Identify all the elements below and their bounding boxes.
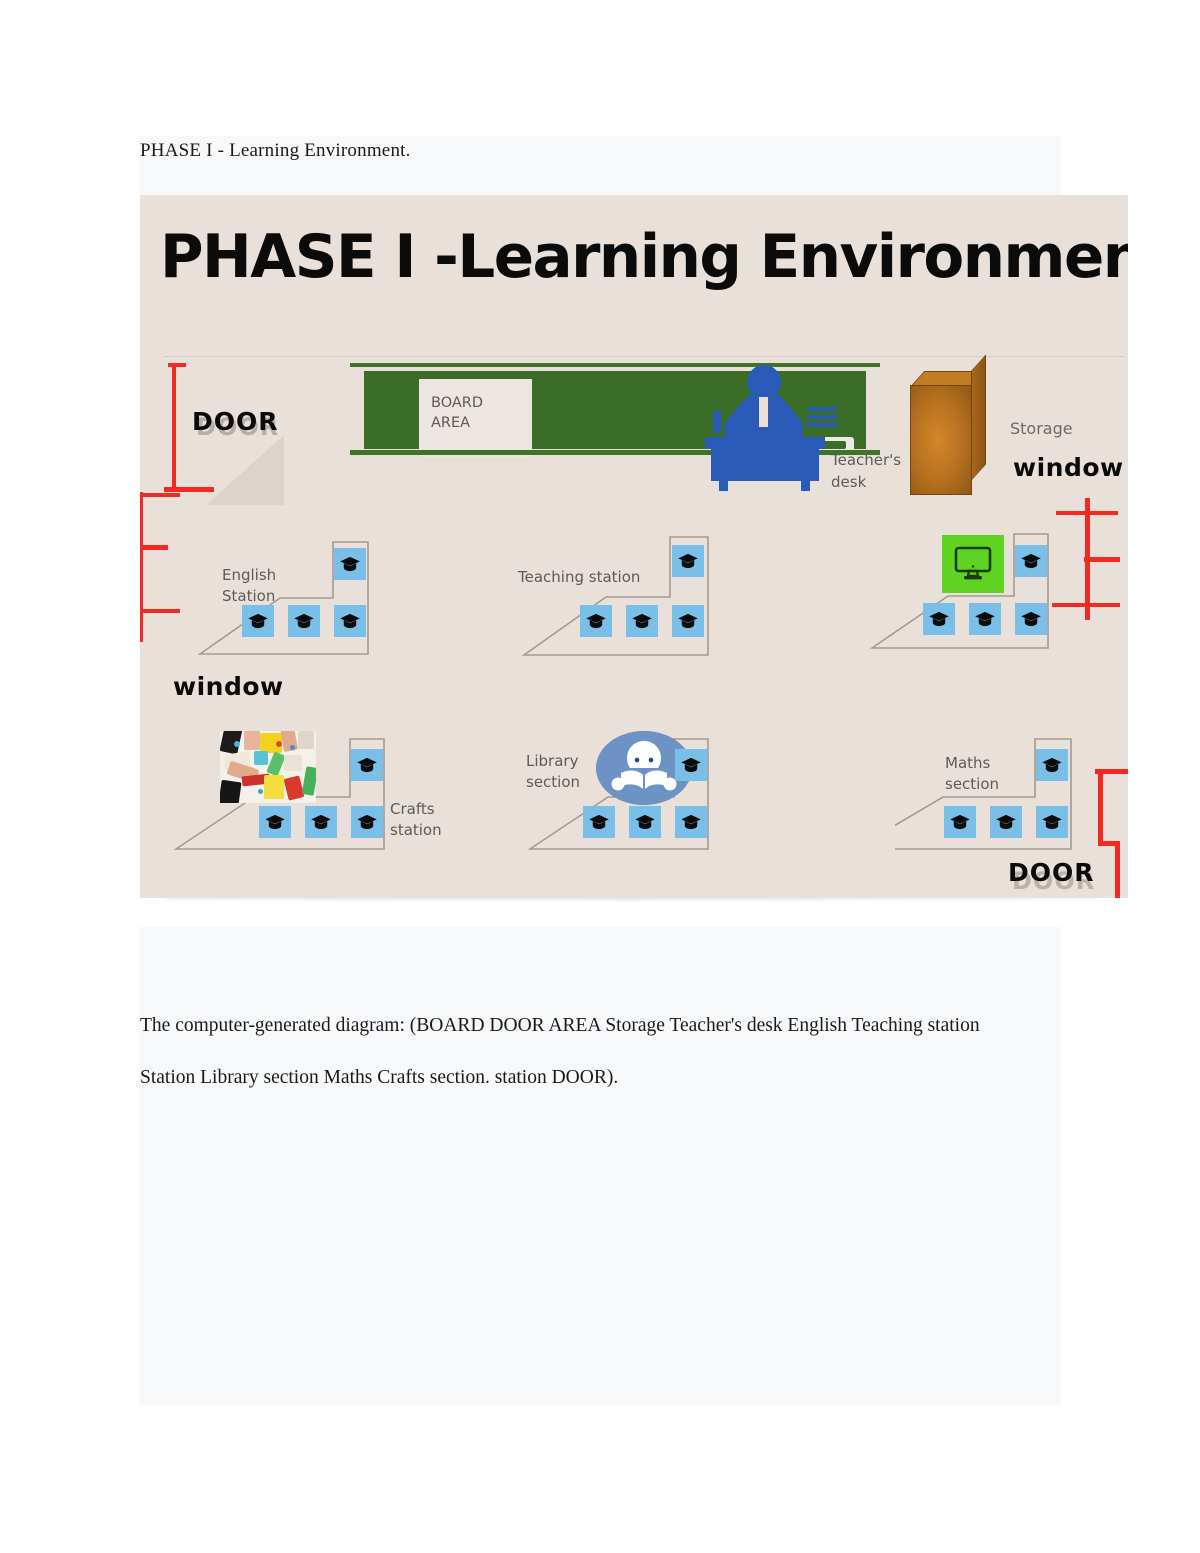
station-teaching-label: Teaching station	[518, 567, 640, 588]
desk-leg-right	[801, 479, 810, 491]
seat[interactable]	[583, 806, 615, 838]
door-marker-top-left-bottom-tick	[164, 487, 214, 492]
seat[interactable]	[944, 806, 976, 838]
seat[interactable]	[351, 749, 383, 781]
teacher-desk-group: Teacher's desk	[705, 363, 840, 488]
seat[interactable]	[1036, 806, 1068, 838]
station-crafts-outline	[168, 733, 468, 863]
teacher-tie-icon	[759, 397, 768, 427]
seat[interactable]	[334, 548, 366, 580]
storage-cabinet-front	[910, 385, 972, 495]
window-marker-right-tick-2	[1084, 557, 1120, 562]
station-library[interactable]: Library section	[518, 733, 768, 863]
seat[interactable]	[675, 806, 707, 838]
seat[interactable]	[1015, 603, 1047, 635]
storage-cabinet-side	[971, 354, 986, 481]
page-heading: PHASE I - Learning Environment.	[140, 140, 1000, 162]
station-crafts-label: Crafts station	[390, 799, 442, 841]
door-marker-top-left-vertical	[172, 363, 176, 491]
window-marker-left-tick-1	[140, 493, 180, 497]
seat[interactable]	[1036, 749, 1068, 781]
door-marker-bottom-right-vertical-2	[1115, 841, 1120, 898]
station-computer[interactable]	[862, 520, 1077, 660]
seat[interactable]	[242, 605, 274, 637]
diagram-title: PHASE I -Learning Environment	[160, 221, 1128, 293]
station-teaching-outline	[510, 525, 740, 665]
station-maths-outline	[895, 733, 1110, 863]
station-maths[interactable]: Maths section	[895, 733, 1110, 863]
desk-body	[711, 447, 819, 481]
station-maths-label: Maths section	[945, 753, 999, 795]
seat[interactable]	[923, 603, 955, 635]
seat[interactable]	[675, 749, 707, 781]
seat[interactable]	[334, 605, 366, 637]
seat[interactable]	[351, 806, 383, 838]
seat[interactable]	[305, 806, 337, 838]
seat[interactable]	[672, 545, 704, 577]
seat[interactable]	[626, 605, 658, 637]
board-area-card: BOARD AREA	[419, 379, 532, 457]
teacher-desk-label: Teacher's desk	[831, 449, 901, 493]
door-swing-shape	[206, 435, 284, 505]
crafts-photo	[220, 731, 316, 803]
seat[interactable]	[580, 605, 612, 637]
learning-environment-diagram: PHASE I -Learning Environment BOARD AREA…	[140, 195, 1128, 898]
diagram-caption: The computer-generated diagram: (BOARD D…	[140, 1000, 1020, 1104]
window-label-top-right: window	[1013, 453, 1124, 482]
seat[interactable]	[1015, 545, 1047, 577]
station-library-label: Library section	[526, 751, 580, 793]
window-marker-left-vertical	[140, 492, 143, 642]
seat[interactable]	[672, 605, 704, 637]
teacher-head-icon	[747, 365, 781, 399]
desk-leg-left	[719, 479, 728, 491]
seat[interactable]	[288, 605, 320, 637]
window-label-mid-left: window	[173, 672, 284, 701]
station-english[interactable]: English Station	[188, 528, 388, 663]
wall-line	[164, 356, 1124, 357]
desktop-monitor-icon	[942, 535, 1004, 593]
window-marker-left-tick-3	[140, 609, 180, 613]
seat[interactable]	[629, 806, 661, 838]
seat[interactable]	[990, 806, 1022, 838]
station-teaching[interactable]: Teaching station	[510, 525, 740, 665]
door-label-top-left: DOOR	[192, 407, 279, 436]
window-marker-right-tick-1	[1056, 511, 1118, 515]
papers-icon	[807, 407, 837, 433]
window-marker-left-tick-2	[140, 545, 168, 550]
document-bottom-band	[139, 927, 1061, 1405]
storage-label: Storage	[1010, 419, 1073, 438]
seat[interactable]	[259, 806, 291, 838]
cup-icon	[713, 411, 721, 433]
station-crafts[interactable]: Crafts station	[168, 733, 468, 863]
seat[interactable]	[969, 603, 1001, 635]
board-area-label: BOARD AREA	[431, 393, 483, 433]
station-english-label: English Station	[222, 565, 276, 607]
door-marker-top-left-top-tick	[168, 363, 186, 367]
